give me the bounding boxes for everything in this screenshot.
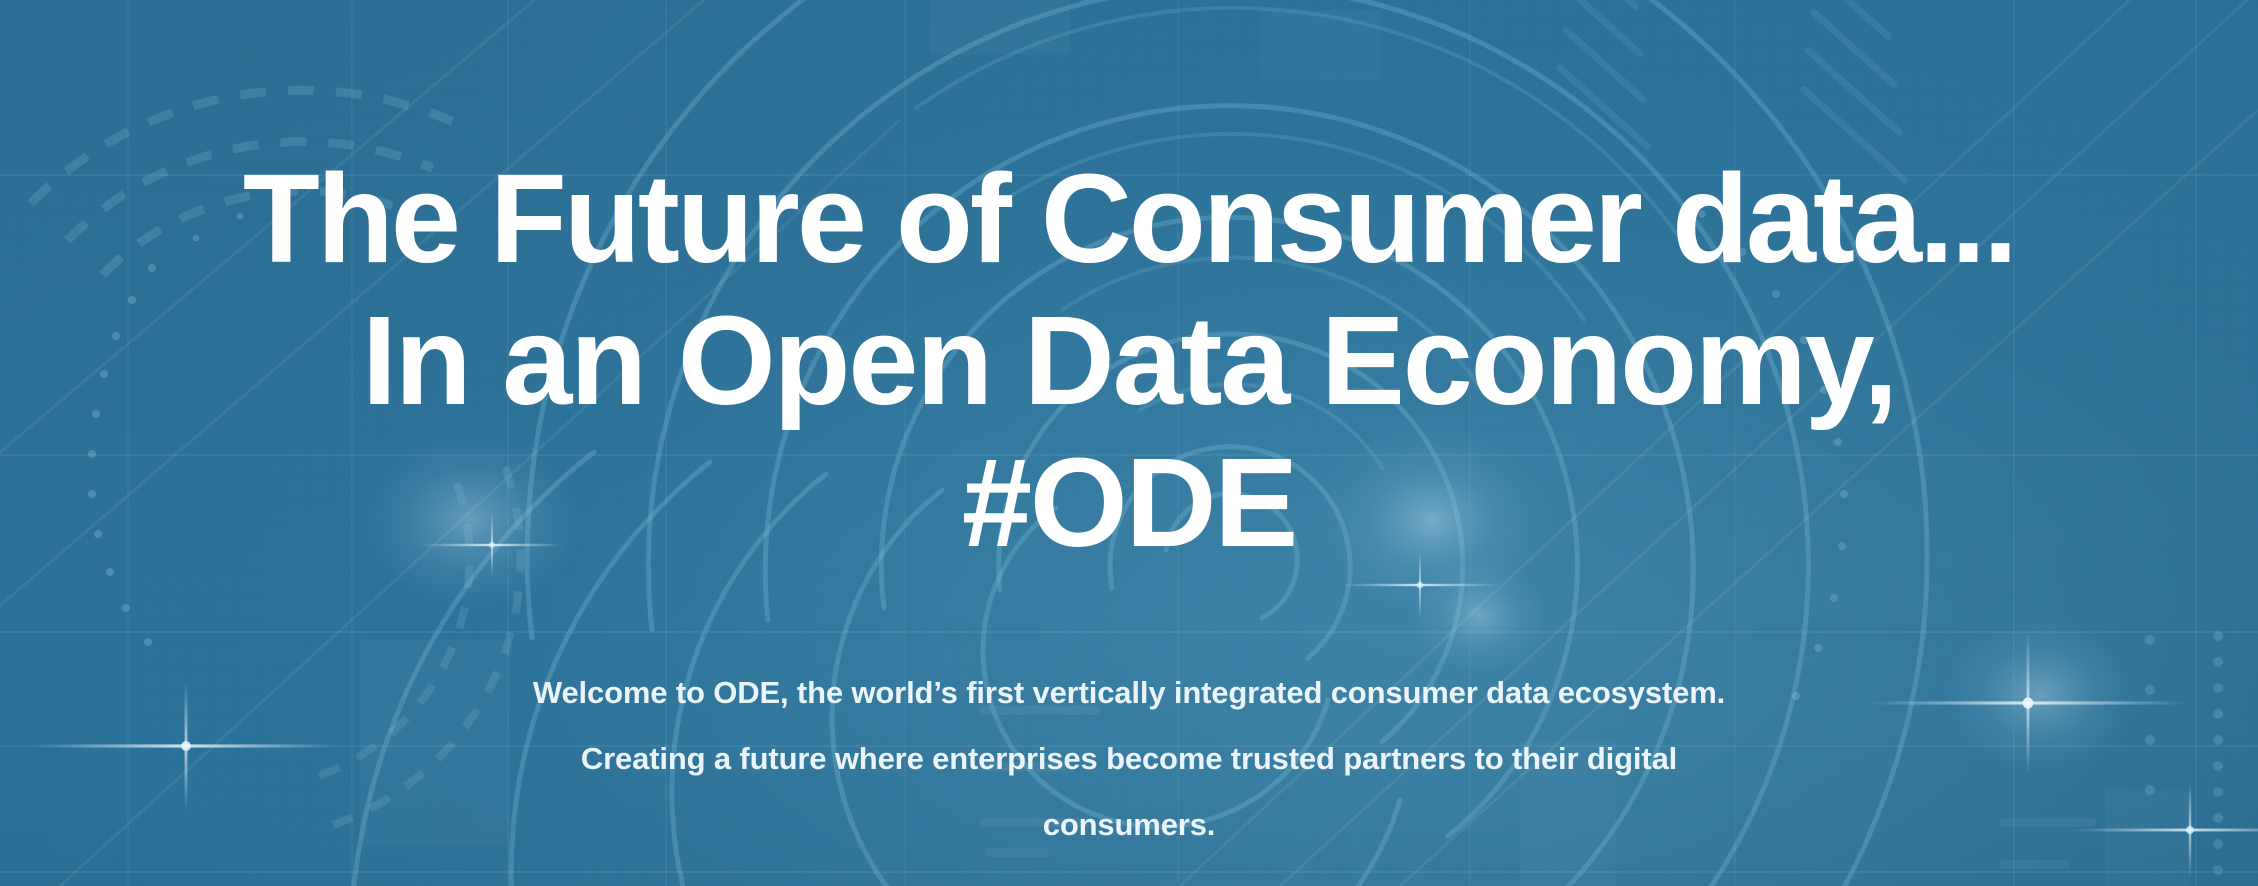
headline-line-3: #ODE (0, 432, 2258, 574)
hero-banner: The Future of Consumer data... In an Ope… (0, 0, 2258, 886)
subtitle-line-2: Creating a future where enterprises beco… (504, 726, 1754, 792)
subtitle-line-1: Welcome to ODE, the world’s first vertic… (504, 660, 1754, 726)
headline-line-1: The Future of Consumer data... (0, 148, 2258, 290)
hero-subtitle: Welcome to ODE, the world’s first vertic… (504, 660, 1754, 858)
page-title: The Future of Consumer data... In an Ope… (0, 148, 2258, 574)
headline-line-2: In an Open Data Economy, (0, 290, 2258, 432)
hero-content: The Future of Consumer data... In an Ope… (0, 0, 2258, 886)
subtitle-line-3: consumers. (504, 792, 1754, 858)
